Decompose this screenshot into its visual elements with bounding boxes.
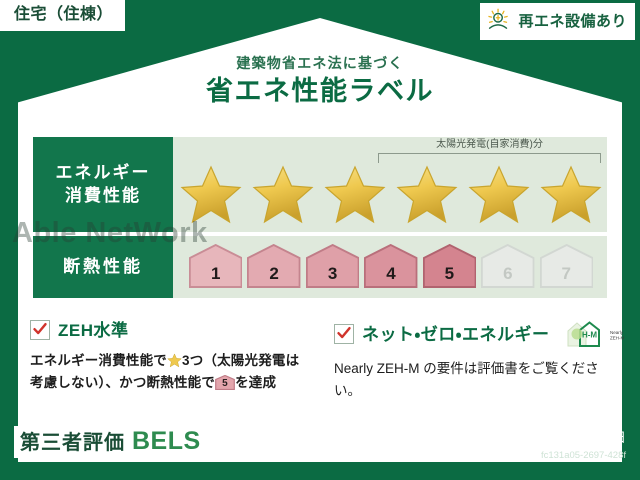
energy-performance-row: エネルギー 消費性能 太陽光発電(自家消費)分	[33, 137, 607, 232]
insulation-grade-1: 1	[189, 244, 242, 288]
evaluation-code: fc131a05-2697-428f	[489, 451, 626, 461]
renewable-energy-label: 再エネ設備あり	[518, 14, 627, 29]
svg-text:ZEH-M: ZEH-M	[610, 336, 624, 341]
zeh-desc-part1: エネルギー消費性能で	[30, 353, 167, 368]
sun-icon	[487, 8, 513, 34]
insulation-grade-label: 1	[189, 265, 242, 282]
net-zero-checkbox	[334, 324, 354, 344]
insulation-grade-7: 7	[540, 244, 593, 288]
svg-text:Nearly: Nearly	[610, 330, 624, 335]
star-rating	[179, 164, 603, 226]
net-zero-title-row: ネット・ゼロ・エネルギー H-M Nearly ZEH-M	[334, 320, 600, 348]
insulation-grade-label: 3	[306, 265, 359, 282]
zeh-title: ZEH水準	[58, 322, 129, 339]
insulation-grade-4: 4	[364, 244, 417, 288]
zeh-checkbox	[30, 320, 50, 340]
insulation-row-header: 断熱性能	[33, 236, 173, 298]
star-icon	[467, 164, 531, 226]
inline-grade-badge: 5	[215, 375, 235, 390]
headline-main: 省エネ性能ラベル	[0, 78, 640, 105]
zeh-title-row: ZEH水準	[30, 320, 310, 340]
zeh-desc-part3: を達成	[235, 375, 276, 390]
zeh-criteria-block: ZEH水準 エネルギー消費性能で3つ（太陽光発電は考慮しない）、かつ断熱性能で5…	[30, 320, 320, 402]
insulation-performance-row: 断熱性能 1 2 3	[33, 236, 607, 298]
energy-header-line2: 消費性能	[65, 185, 141, 208]
insulation-grade-label: 4	[364, 265, 417, 282]
net-zero-criteria-block: ネット・ゼロ・エネルギー H-M Nearly ZEH-M Nearly ZEH…	[320, 320, 610, 402]
star-icon	[539, 164, 603, 226]
building-type-tag: 住宅（住棟）	[0, 0, 125, 31]
star-icon	[179, 164, 243, 226]
insulation-grade-scale: 1 2 3 4	[189, 244, 593, 288]
insulation-grade-2: 2	[247, 244, 300, 288]
insulation-grade-label: 2	[247, 265, 300, 282]
energy-row-header: エネルギー 消費性能	[33, 137, 173, 232]
performance-panel: エネルギー 消費性能 太陽光発電(自家消費)分	[33, 137, 607, 298]
solar-bracket-group: 太陽光発電(自家消費)分	[378, 137, 601, 163]
bels-logo-text: BELS	[132, 429, 201, 454]
renewable-energy-badge: 再エネ設備あり	[480, 3, 635, 40]
svg-text:H-M: H-M	[582, 331, 597, 340]
insulation-row-body: 1 2 3 4	[173, 236, 607, 298]
building-name: リッツハウスⅡ	[208, 440, 289, 453]
solar-note-label: 太陽光発電(自家消費)分	[378, 137, 601, 150]
criteria-section: ZEH水準 エネルギー消費性能で3つ（太陽光発電は考慮しない）、かつ断熱性能で5…	[30, 320, 610, 402]
evaluation-info: 評価日 2025年1月30日 fc131a05-2697-428f	[489, 431, 626, 460]
zeh-description: エネルギー消費性能で3つ（太陽光発電は考慮しない）、かつ断熱性能で5を達成	[30, 350, 310, 394]
insulation-grade-label: 6	[481, 265, 534, 282]
insulation-grade-6: 6	[481, 244, 534, 288]
net-zero-title: ネット・ゼロ・エネルギー	[362, 326, 550, 343]
insulation-grade-5: 5	[423, 244, 476, 288]
energy-row-body: 太陽光発電(自家消費)分	[173, 137, 607, 232]
energy-header-line1: エネルギー	[56, 162, 151, 185]
evaluation-date: 評価日 2025年1月30日	[489, 431, 626, 445]
zeh-m-logo-icon: H-M Nearly ZEH-M	[558, 320, 624, 348]
net-zero-description: Nearly ZEH-M の要件は評価書をご覧ください。	[334, 358, 600, 402]
star-icon	[395, 164, 459, 226]
insulation-grade-label: 5	[423, 265, 476, 282]
solar-bracket	[378, 153, 601, 163]
star-icon	[251, 164, 315, 226]
page-title: 建築物省エネ法に基づく 省エネ性能ラベル	[0, 56, 640, 105]
insulation-grade-3: 3	[306, 244, 359, 288]
insulation-grade-label: 7	[540, 265, 593, 282]
inline-star-icon	[167, 353, 182, 368]
bels-footer-badge: 第三者評価 BELS	[14, 426, 207, 458]
third-party-label: 第三者評価	[20, 433, 125, 453]
headline-subtitle: 建築物省エネ法に基づく	[0, 56, 640, 70]
star-icon	[323, 164, 387, 226]
energy-performance-label: 住宅（住棟） 再エネ設備あり 建築物省エネ法に基づく	[0, 0, 640, 480]
inline-grade-label: 5	[215, 379, 235, 389]
